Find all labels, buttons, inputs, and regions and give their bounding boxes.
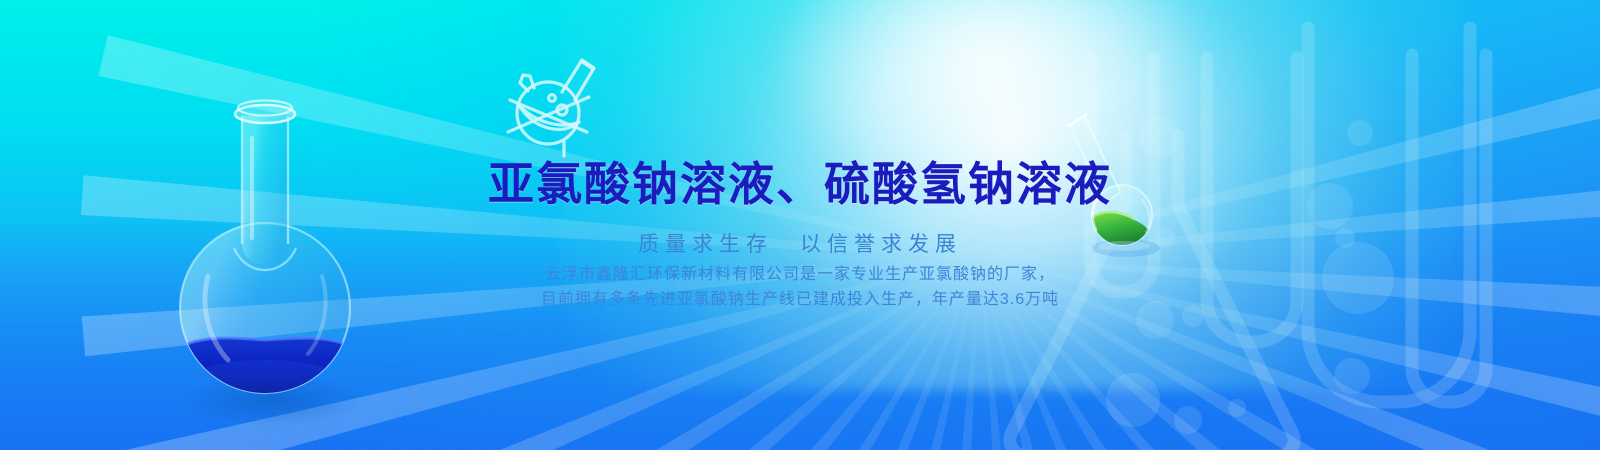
flask-outline-icon [486,50,604,160]
description-line-1: 云浮市鑫隆汇环保新材料有限公司是一家专业生产亚氯酸钠的厂家， [0,262,1600,287]
banner-subtitle: 质量求生存 以信誉求发展 [0,228,1600,258]
description-line-2: 目前拥有多条先进亚氯酸钠生产线已建成投入生产，年产量达3.6万吨 [0,287,1600,312]
hero-banner: 亚氯酸钠溶液、硫酸氢钠溶液 质量求生存 以信誉求发展 云浮市鑫隆汇环保新材料有限… [0,0,1600,450]
banner-title: 亚氯酸钠溶液、硫酸氢钠溶液 [0,148,1600,214]
banner-description: 云浮市鑫隆汇环保新材料有限公司是一家专业生产亚氯酸钠的厂家， 目前拥有多条先进亚… [0,262,1600,312]
